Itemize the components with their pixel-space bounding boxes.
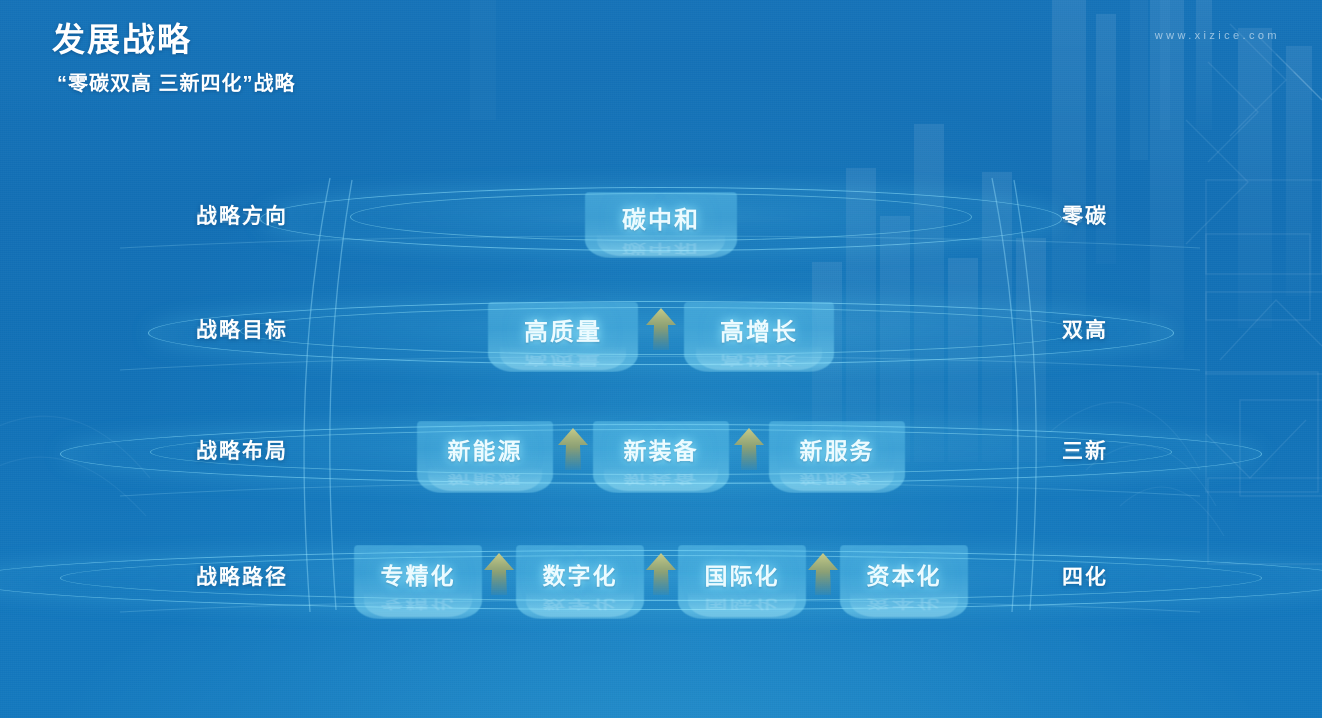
node-label-reflection: 国际化 xyxy=(705,596,780,614)
node-label: 碳中和 xyxy=(622,200,700,235)
row-items: 新能源新能源新装备新装备新服务新服务 xyxy=(417,393,905,485)
node-label: 资本化 xyxy=(867,557,942,591)
strategy-diagram: 碳中和碳中和战略方向战略方向零碳零碳高质量高质量高增长高增长战略目标战略目标双高… xyxy=(0,0,1322,718)
progress-arrow xyxy=(729,413,769,485)
strategy-node[interactable]: 高质量高质量 xyxy=(488,294,638,364)
node-label: 高增长 xyxy=(720,312,798,347)
node-label-reflection: 新能源 xyxy=(448,471,523,489)
row-right-label: 双高双高 xyxy=(1062,314,1202,344)
row-right-label-reflection: 零碳 xyxy=(1062,210,1108,227)
row-left-label: 战略方向战略方向 xyxy=(196,200,386,230)
site-watermark: www.xizice.com xyxy=(1155,30,1280,42)
up-arrow-icon xyxy=(556,426,590,472)
node-label: 新服务 xyxy=(800,432,875,466)
strategy-node[interactable]: 高增长高增长 xyxy=(684,294,834,364)
row-items: 碳中和碳中和 xyxy=(585,164,737,250)
node-label-reflection: 高质量 xyxy=(524,352,602,370)
node-label-reflection: 新装备 xyxy=(624,471,699,489)
header-block: 发展战略 “零碳双高 三新四化”战略 xyxy=(52,18,296,98)
strategy-node[interactable]: 碳中和碳中和 xyxy=(585,184,737,250)
row-right-label: 零碳零碳 xyxy=(1062,200,1202,230)
progress-arrow xyxy=(553,413,593,485)
up-arrow-icon xyxy=(482,551,516,597)
node-label: 数字化 xyxy=(543,557,618,591)
node-label-reflection: 专精化 xyxy=(381,596,456,614)
strategy-node[interactable]: 新服务新服务 xyxy=(769,413,905,485)
node-label: 专精化 xyxy=(381,557,456,591)
node-label-reflection: 碳中和 xyxy=(622,240,700,258)
slide-canvas: 发展战略 “零碳双高 三新四化”战略 www.xizice.com 碳中和碳中和… xyxy=(0,0,1322,718)
row-left-label: 战略路径战略路径 xyxy=(196,561,386,591)
row-right-label-reflection: 双高 xyxy=(1062,324,1108,341)
row-right-label-reflection: 四化 xyxy=(1062,571,1108,588)
strategy-node[interactable]: 新装备新装备 xyxy=(593,413,729,485)
node-label: 新装备 xyxy=(624,432,699,466)
up-arrow-icon xyxy=(644,306,678,352)
row-left-label-reflection: 战略路径 xyxy=(196,571,288,588)
progress-arrow xyxy=(482,537,516,611)
up-arrow-icon xyxy=(806,551,840,597)
row-right-label-reflection: 三新 xyxy=(1062,445,1108,462)
node-label-reflection: 资本化 xyxy=(867,596,942,614)
page-subtitle: “零碳双高 三新四化”战略 xyxy=(57,70,296,98)
up-arrow-icon xyxy=(732,426,766,472)
row-left-label-reflection: 战略方向 xyxy=(196,210,288,227)
row-items: 高质量高质量高增长高增长 xyxy=(488,274,834,364)
node-label: 新能源 xyxy=(448,432,523,466)
row-right-label: 四化四化 xyxy=(1062,561,1202,591)
row-right-label: 三新三新 xyxy=(1062,435,1202,465)
strategy-node[interactable]: 国际化国际化 xyxy=(678,537,806,611)
node-label-reflection: 新服务 xyxy=(800,471,875,489)
row-left-label-reflection: 战略布局 xyxy=(196,445,288,462)
strategy-node[interactable]: 资本化资本化 xyxy=(840,537,968,611)
page-title: 发展战略 xyxy=(52,18,296,62)
row-left-label-reflection: 战略目标 xyxy=(196,324,288,341)
node-label-reflection: 高增长 xyxy=(720,352,798,370)
node-label-reflection: 数字化 xyxy=(543,596,618,614)
up-arrow-icon xyxy=(644,551,678,597)
strategy-node[interactable]: 新能源新能源 xyxy=(417,413,553,485)
node-label: 高质量 xyxy=(524,312,602,347)
strategy-node[interactable]: 数字化数字化 xyxy=(516,537,644,611)
row-left-label: 战略目标战略目标 xyxy=(196,314,386,344)
progress-arrow xyxy=(638,294,684,364)
row-left-label: 战略布局战略布局 xyxy=(196,435,386,465)
progress-arrow xyxy=(644,537,678,611)
node-label: 国际化 xyxy=(705,557,780,591)
progress-arrow xyxy=(806,537,840,611)
row-items: 专精化专精化数字化数字化国际化国际化资本化资本化 xyxy=(354,517,968,611)
